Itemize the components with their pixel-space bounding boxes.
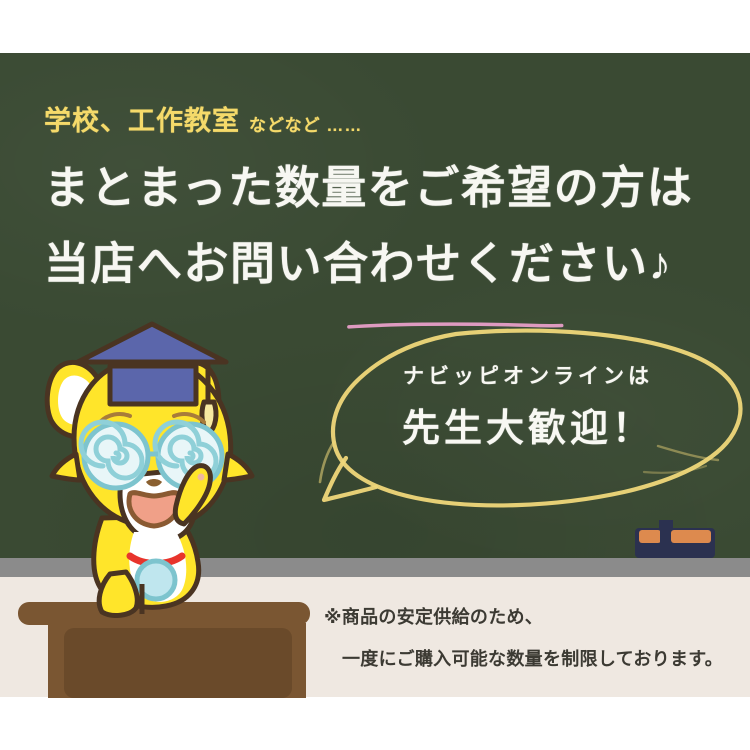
- kicker-line: 学校、工作教室 などなど ……: [44, 99, 362, 138]
- pink-chalk-underline-icon: [306, 322, 606, 329]
- footer-note-line-2: 一度にご購入可能な数量を制限しております。: [324, 638, 723, 680]
- speech-bubble: ナビッピオンラインは 先生大歓迎！: [306, 322, 750, 522]
- headline-line-1: まとまった数量をご希望の方は: [44, 150, 693, 226]
- speech-bubble-text: ナビッピオンラインは 先生大歓迎！: [306, 322, 750, 522]
- promo-banner: 学校、工作教室 などなど …… まとまった数量をご希望の方は 当店へお問い合わせ…: [0, 0, 750, 750]
- bubble-line-2: 先生大歓迎！: [402, 397, 654, 452]
- footer-note: ※商品の安定供給のため、 一度にご購入可能な数量を制限しております。: [324, 596, 723, 680]
- top-white-margin: [0, 0, 750, 53]
- briefcase-icon: [631, 520, 719, 558]
- footer-note-line-1: ※商品の安定供給のため、: [324, 596, 723, 638]
- headline: まとまった数量をご希望の方は 当店へお問い合わせください♪: [44, 150, 693, 302]
- kicker-trailing: などなど ……: [249, 111, 362, 138]
- bubble-line-1: ナビッピオンラインは: [403, 360, 653, 390]
- kicker-emphasis: 学校、工作教室: [44, 99, 240, 138]
- graduate-cat-mascot-icon: [38, 318, 268, 618]
- headline-line-2: 当店へお問い合わせください♪: [44, 226, 693, 302]
- bottom-white-margin: [0, 697, 750, 750]
